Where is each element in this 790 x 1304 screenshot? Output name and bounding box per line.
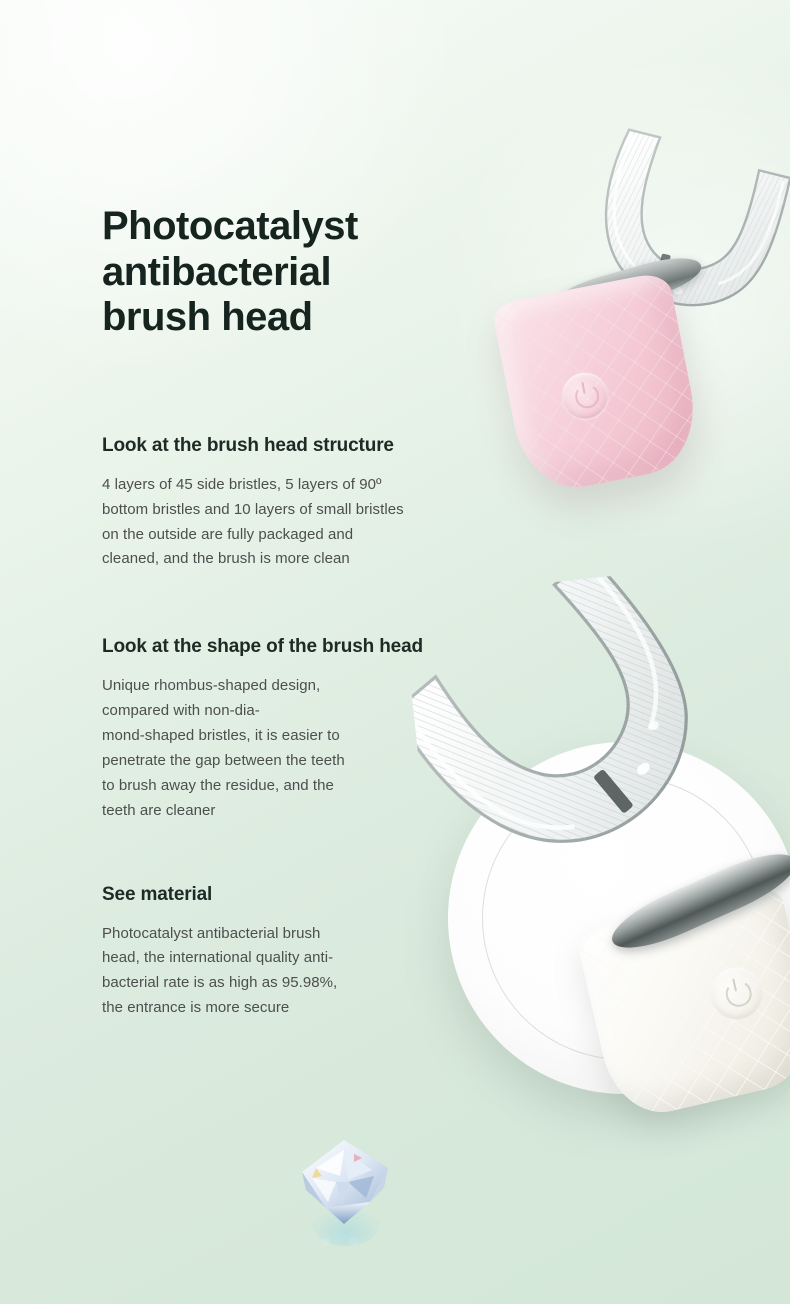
page-title: Photocatalyst antibacterial brush head [102,204,502,341]
section-body: Photocatalyst antibacterial brush head, … [102,922,502,1022]
diamond-icon [292,1132,396,1252]
section-brush-head-structure: Look at the brush head structure 4 layer… [102,433,502,573]
section-body: Unique rhombus-shaped design, compared w… [102,674,502,823]
section-heading: See material [102,882,502,909]
section-heading: Look at the shape of the brush head [102,634,502,661]
pink-toothbrush-image [496,140,790,510]
product-detail-page: Photocatalyst antibacterial brush head L… [0,0,790,1304]
section-heading: Look at the brush head structure [102,433,502,460]
section-body: 4 layers of 45 side bristles, 5 layers o… [102,473,502,573]
section-material: See material Photocatalyst antibacterial… [102,882,502,1022]
section-brush-head-shape: Look at the shape of the brush head Uniq… [102,634,502,823]
content-column: Photocatalyst antibacterial brush head L… [102,204,502,1021]
pink-device-body [491,271,705,498]
